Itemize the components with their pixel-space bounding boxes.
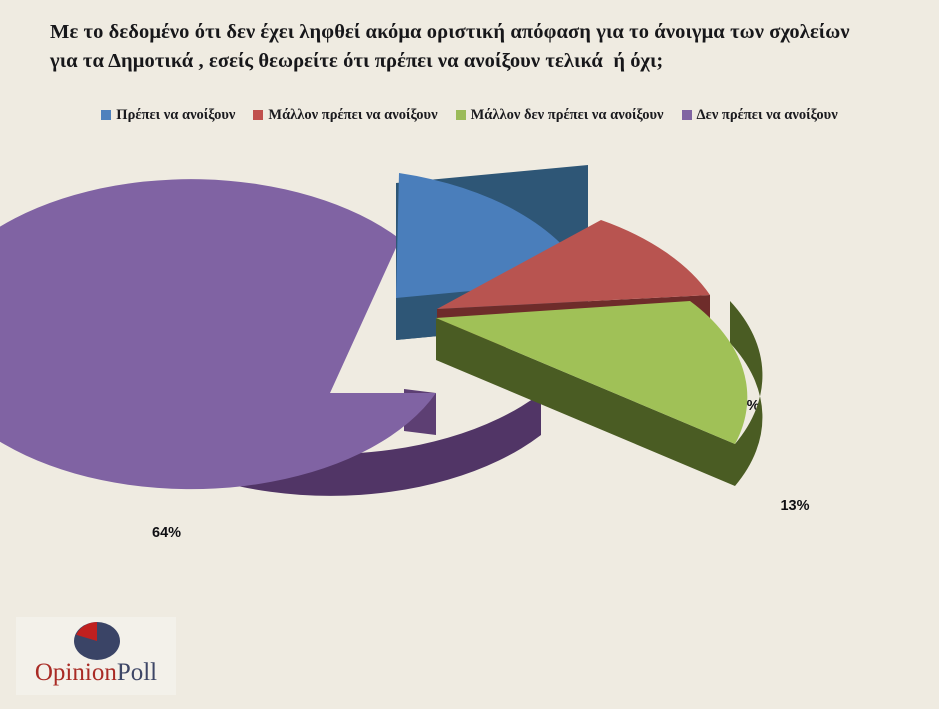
legend-item-label: Δεν πρέπει να ανοίξουν [697, 108, 838, 123]
legend-item-label: Μάλλον πρέπει να ανοίξουν [268, 108, 437, 123]
pie-chart-page: Με το δεδομένο ότι δεν έχει ληφθεί ακόμα… [0, 0, 939, 709]
legend-item-label: Πρέπει να ανοίξουν [116, 108, 235, 123]
title-line-1: Με το δεδομένο ότι δεν έχει ληφθεί ακόμα… [50, 18, 900, 47]
pie-slice-top [0, 179, 436, 489]
legend-swatch-icon [682, 110, 692, 120]
logo-wordmark: OpinionPoll [16, 659, 176, 687]
legend-swatch-icon [253, 110, 263, 120]
page-title: Με το δεδομένο ότι δεν έχει ληφθεί ακόμα… [50, 18, 900, 76]
legend-swatch-icon [456, 110, 466, 120]
pie-chart-svg: 64% 14% 9% 13% [0, 140, 939, 580]
legend-item-probably-must-open[interactable]: Μάλλον πρέπει να ανοίξουν [253, 108, 437, 123]
legend-item-must-not-open[interactable]: Δεν πρέπει να ανοίξουν [682, 108, 838, 123]
legend-swatch-icon [101, 110, 111, 120]
pie-slice-value-label: 13% [780, 498, 809, 514]
pie-chart-plot-area: 64% 14% 9% 13% [0, 140, 939, 580]
chart-legend: Πρέπει να ανοίξουν Μάλλον πρέπει να ανοί… [0, 108, 939, 123]
logo-text-opinion: Opinion [35, 659, 117, 686]
legend-item-must-open[interactable]: Πρέπει να ανοίξουν [101, 108, 235, 123]
logo-mark-icon [72, 620, 122, 662]
legend-item-label: Μάλλον δεν πρέπει να ανοίξουν [471, 108, 664, 123]
pie-slice-value-label: 64% [152, 525, 181, 541]
legend-item-probably-must-not-open[interactable]: Μάλλον δεν πρέπει να ανοίξουν [456, 108, 664, 123]
logo-text-poll: Poll [117, 659, 157, 686]
opinionpoll-logo: OpinionPoll [16, 617, 176, 695]
title-line-2: για τα Δημοτικά , εσείς θεωρείτε ότι πρέ… [50, 47, 900, 76]
